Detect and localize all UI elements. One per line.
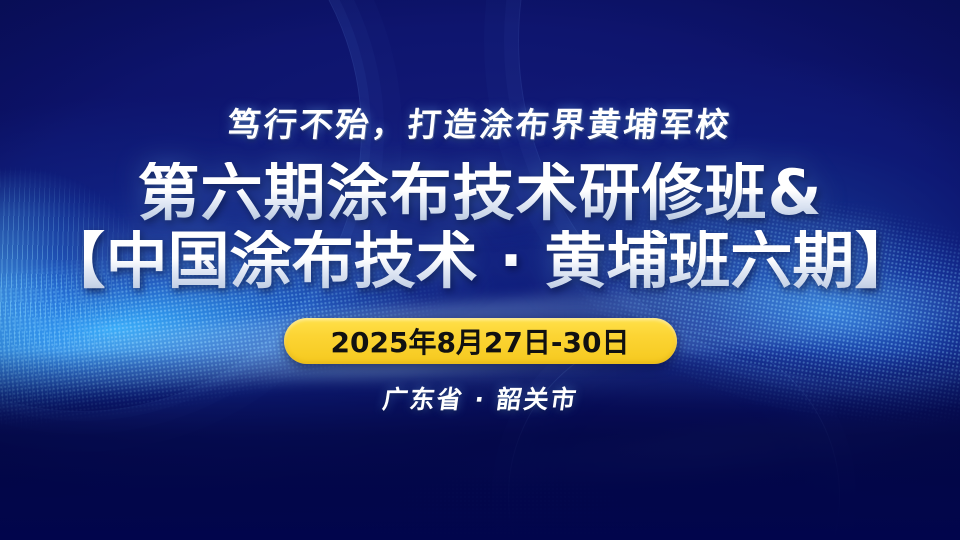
poster-content: 笃行不殆，打造涂布界黄埔军校 第六期涂布技术研修班& 【中国涂布技术 · 黄埔班… [0, 0, 960, 540]
poster-title-block: 第六期涂布技术研修班& 【中国涂布技术 · 黄埔班六期】 [44, 162, 917, 292]
poster-canvas: 笃行不殆，打造涂布界黄埔军校 第六期涂布技术研修班& 【中国涂布技术 · 黄埔班… [0, 0, 960, 540]
date-badge-label: 2025年8月27日-30日 [331, 321, 630, 361]
poster-location: 广东省 · 韶关市 [380, 380, 580, 416]
poster-title-line-1: 第六期涂布技术研修班& [137, 162, 822, 224]
poster-tagline: 笃行不殆，打造涂布界黄埔军校 [225, 98, 734, 146]
poster-title-line-2: 【中国涂布技术 · 黄埔班六期】 [44, 230, 917, 292]
date-badge: 2025年8月27日-30日 [284, 318, 677, 364]
